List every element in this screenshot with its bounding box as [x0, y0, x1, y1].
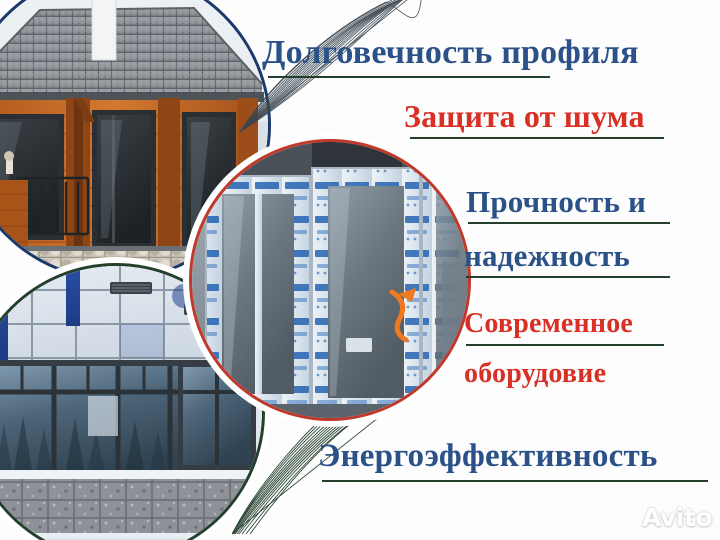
photo-pvc-windows-image — [192, 142, 468, 418]
avito-watermark: Avito — [612, 503, 712, 532]
headline-strength-line2: надежность — [464, 240, 630, 271]
headline-equipment-line2: оборудовие — [464, 360, 606, 388]
headline-rule-energy-efficiency — [322, 480, 708, 482]
headline-durability: Долговечность профиля — [262, 36, 639, 70]
headline-rule-equipment-line1 — [466, 344, 664, 346]
headline-strength-line1: Прочность и — [466, 186, 646, 217]
headline-rule-noise-protection — [410, 137, 664, 139]
avito-watermark-text: Avito — [642, 503, 712, 532]
poster-canvas: Долговечность профиля Защита от шума Про… — [0, 0, 720, 540]
headline-rule-strength-line1 — [468, 222, 670, 224]
photo-pvc-windows — [192, 142, 468, 418]
headline-rule-durability — [268, 76, 550, 78]
avito-dots-icon — [612, 505, 638, 531]
headline-equipment-line1: Современное — [464, 310, 633, 338]
headline-rule-strength-line2 — [466, 276, 670, 278]
pvc-windows-illustration — [192, 142, 468, 418]
headline-noise-protection: Защита от шума — [404, 100, 645, 132]
headline-energy-efficiency: Энергоэффективность — [318, 440, 658, 473]
